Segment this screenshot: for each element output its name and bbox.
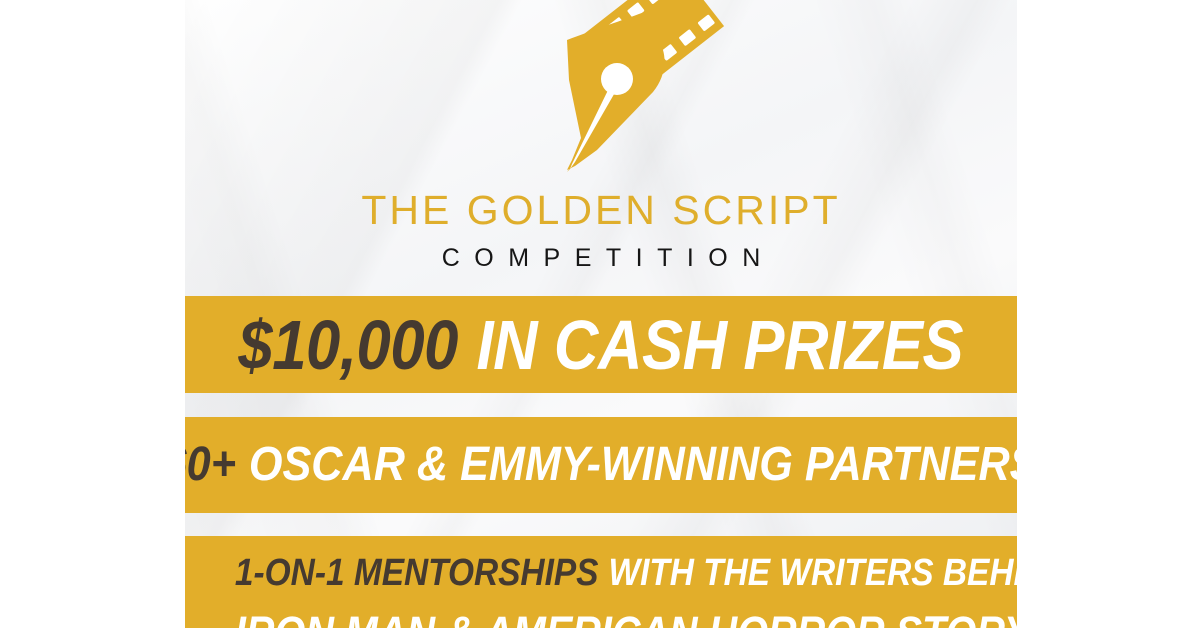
wordmark: THE GOLDEN SCRIPT COMPETITION <box>185 190 1017 271</box>
poster-content: THE GOLDEN SCRIPT COMPETITION $10,000IN … <box>185 0 1017 628</box>
banner-partners-line: 60+OSCAR & EMMY-WINNING PARTNERS <box>185 441 1017 489</box>
banner-mentorships-rest: WITH THE WRITERS BEHIND <box>609 552 1017 594</box>
banner-mentorships-highlight: 1-ON-1 MENTORSHIPS <box>235 552 599 594</box>
wordmark-main: THE GOLDEN SCRIPT <box>185 190 1017 231</box>
poster-frame: THE GOLDEN SCRIPT COMPETITION $10,000IN … <box>0 0 1200 628</box>
banner-partners-rest: OSCAR & EMMY-WINNING PARTNERS <box>249 438 1017 491</box>
banner-partners: 60+OSCAR & EMMY-WINNING PARTNERS <box>185 417 1017 513</box>
banner-mentorships-line-1: 1-ON-1 MENTORSHIPSWITH THE WRITERS BEHIN… <box>235 554 967 592</box>
banner-cash-prizes-line: $10,000IN CASH PRIZES <box>239 310 964 380</box>
banner-cash-prizes: $10,000IN CASH PRIZES <box>185 296 1017 393</box>
banner-mentorships-line-2: IRON MAN & AMERICAN HORROR STORY <box>235 610 967 628</box>
banner-mentorships: 1-ON-1 MENTORSHIPSWITH THE WRITERS BEHIN… <box>185 536 1017 628</box>
brand-header: THE GOLDEN SCRIPT COMPETITION <box>185 0 1017 296</box>
wordmark-sub: COMPETITION <box>185 246 1017 271</box>
banner-cash-prizes-rest: IN CASH PRIZES <box>477 306 964 384</box>
pen-nib-film-strip-icon <box>471 0 731 188</box>
banner-partners-highlight: 60+ <box>185 438 236 491</box>
banner-cash-prizes-highlight: $10,000 <box>239 306 459 384</box>
